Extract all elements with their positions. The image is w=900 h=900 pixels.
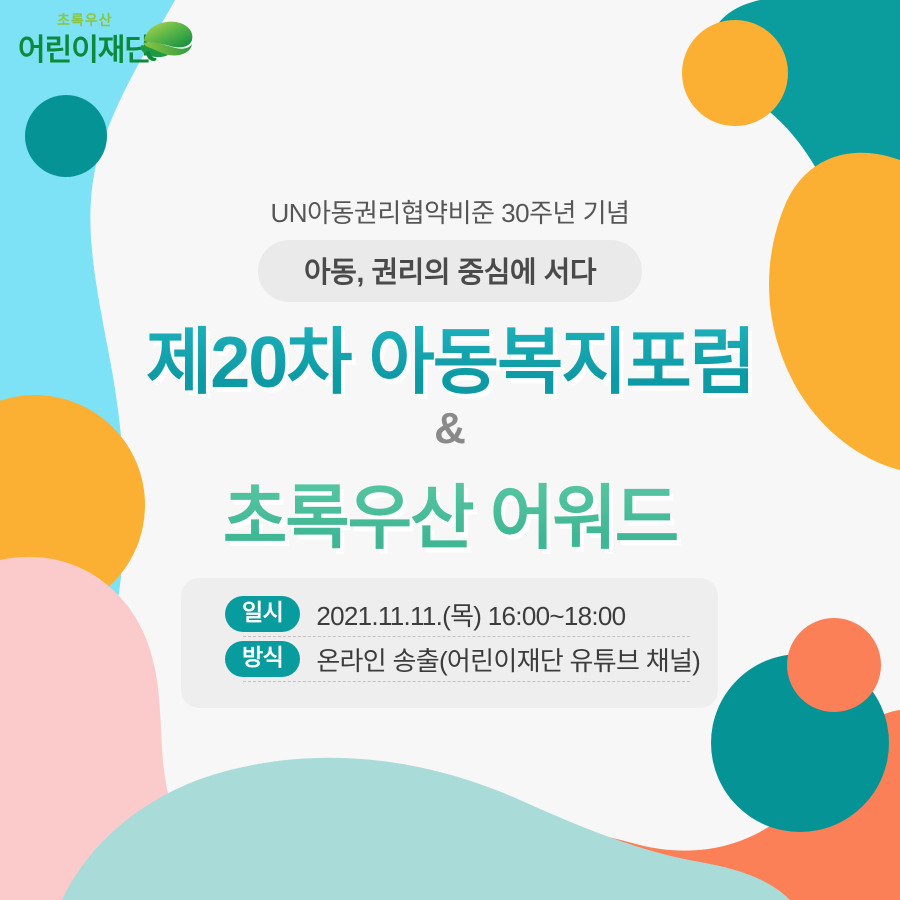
green-leaf-umbrella-icon [136, 19, 194, 63]
info-value-date: 2021.11.11.(목) 16:00~18:00 [316, 596, 625, 633]
pink-blob-shape [0, 600, 118, 900]
info-divider-2 [243, 681, 690, 682]
info-badge-method: 방식 [225, 641, 300, 676]
event-info-box: 일시 2021.11.11.(목) 16:00~18:00 방식 온라인 송출(… [181, 578, 718, 708]
teal-circle-topleft [25, 95, 107, 177]
teal-circle-bottomright [711, 654, 889, 832]
poster-canvas: 초록우산 어린이재단 UN아동권리협약비준 30주년 기념 아동, 권 [0, 0, 900, 900]
page-subtitle: 초록우산 어워드 [0, 462, 900, 563]
info-value-method: 온라인 송출(어린이재단 유튜브 채널) [316, 641, 700, 678]
info-row-date: 일시 2021.11.11.(목) 16:00~18:00 [225, 592, 692, 636]
teal-blob-shape [709, 0, 900, 330]
logo-main-text: 어린이재단 [18, 25, 151, 69]
coral-wave-shape [380, 710, 900, 900]
kicker-text: UN아동권리협약비준 30주년 기념 [0, 193, 900, 230]
page-title: 제20차 아동복지포럼 [0, 303, 900, 408]
ampersand-separator: & [0, 404, 900, 454]
info-row-method: 방식 온라인 송출(어린이재단 유튜브 채널) [225, 637, 692, 681]
info-badge-date: 일시 [225, 596, 300, 631]
sage-blob-shape [62, 758, 790, 900]
orange-circle-topright [682, 20, 788, 126]
subtitle-pill: 아동, 권리의 중심에 서다 [258, 240, 642, 302]
coral-circle-bottomright [787, 618, 881, 712]
logo[interactable]: 초록우산 어린이재단 [18, 10, 188, 62]
